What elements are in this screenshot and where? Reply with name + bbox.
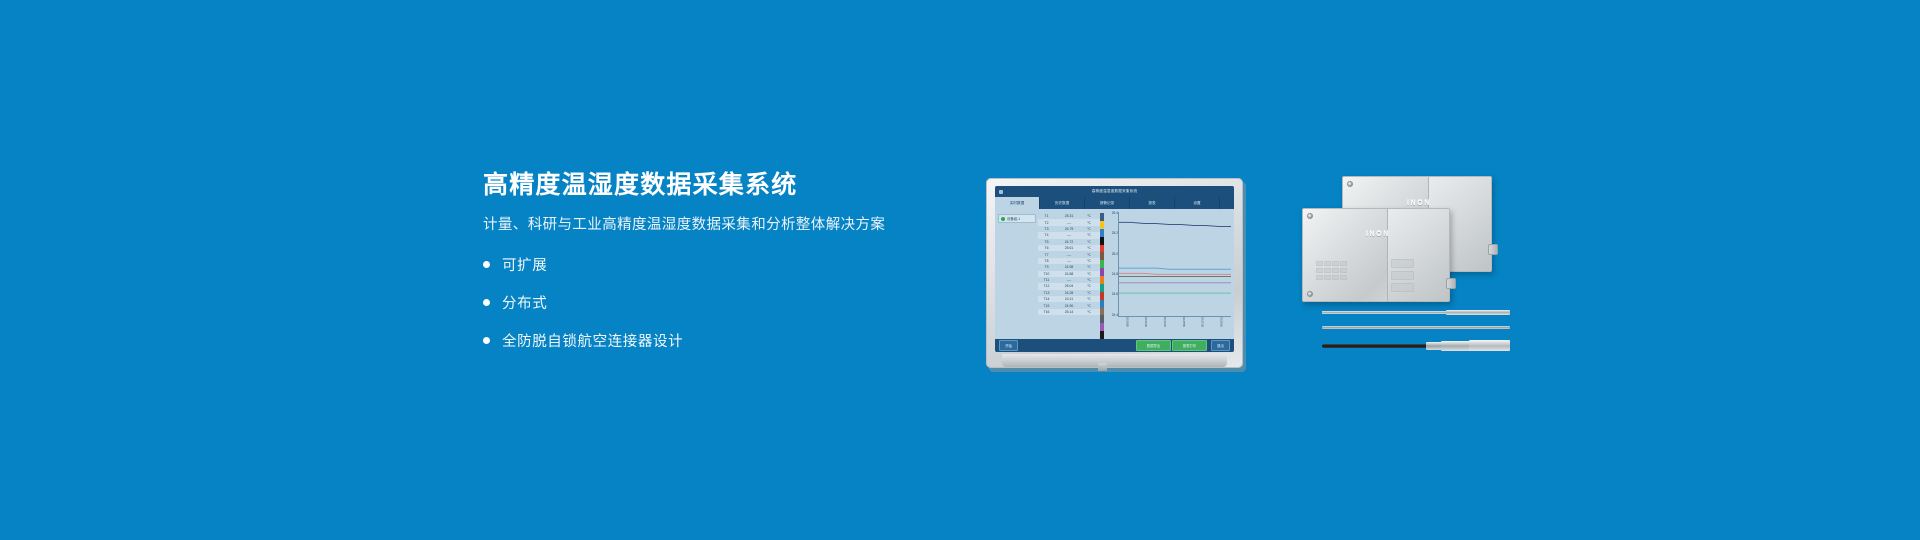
chart-plot-area bbox=[1118, 212, 1231, 317]
channel-value: 24.79 bbox=[1055, 227, 1083, 231]
channel-unit: ℃ bbox=[1083, 304, 1095, 308]
cabled-sensor-probe bbox=[1322, 340, 1510, 351]
channel-value: 25.14 bbox=[1055, 310, 1083, 314]
channel-name: T9 bbox=[1038, 265, 1055, 269]
channel-value: 24.90 bbox=[1055, 304, 1083, 308]
channel-name: T5 bbox=[1038, 240, 1055, 244]
tabbar-spacer bbox=[1220, 197, 1234, 209]
page-subtitle: 计量、科研与工业高精度温湿度数据采集和分析整体解决方案 bbox=[483, 217, 963, 234]
channel-name: T10 bbox=[1038, 272, 1055, 276]
page-title: 高精度温湿度数据采集系统 bbox=[483, 172, 963, 200]
tree-item-device-group[interactable]: 设备组-1 bbox=[998, 214, 1036, 223]
enclosure-front: INON bbox=[1302, 208, 1450, 302]
product-banner: 高精度温湿度数据采集系统 计量、科研与工业高精度温湿度数据采集和分析整体解决方案… bbox=[0, 0, 1920, 540]
daq-application: 高精度温湿度数据采集系统 实时数据 历史数据 报警记录 报表 设置 设备组-1 bbox=[995, 186, 1234, 352]
channel-value: ---- bbox=[1055, 233, 1083, 237]
label-grid bbox=[1316, 261, 1371, 292]
tab-settings[interactable]: 设置 bbox=[1175, 197, 1220, 209]
channel-name: T12 bbox=[1038, 284, 1055, 288]
x-tick-label: 10:22:30 bbox=[1144, 317, 1148, 337]
bullet-dot-icon bbox=[483, 261, 490, 268]
channel-name: T11 bbox=[1038, 278, 1055, 282]
channel-unit: ℃ bbox=[1083, 233, 1095, 237]
sensor-probes bbox=[1322, 310, 1512, 360]
monitor-product-image: 高精度温湿度数据采集系统 实时数据 历史数据 报警记录 报表 设置 设备组-1 bbox=[986, 178, 1249, 375]
chart-y-axis: 25.425.225.024.824.624.4 bbox=[1105, 212, 1118, 317]
channel-value: 25.61 bbox=[1055, 246, 1083, 250]
channel-value: 25.31 bbox=[1055, 214, 1083, 218]
channel-unit: ℃ bbox=[1083, 291, 1095, 295]
monitor-display: 高精度温湿度数据采集系统 实时数据 历史数据 报警记录 报表 设置 设备组-1 bbox=[995, 186, 1234, 352]
tree-item-label: 设备组-1 bbox=[1007, 216, 1020, 221]
banner-copy: 高精度温湿度数据采集系统 计量、科研与工业高精度温湿度数据采集和分析整体解决方案… bbox=[483, 172, 963, 368]
bullet-dot-icon bbox=[483, 299, 490, 306]
channel-unit: ℃ bbox=[1083, 310, 1095, 314]
channel-value: 24.98 bbox=[1055, 265, 1083, 269]
print-report-button[interactable]: 报表打印 bbox=[1172, 340, 1207, 351]
app-titlebar: 高精度温湿度数据采集系统 bbox=[995, 186, 1234, 197]
trend-chart: 25.425.225.024.824.624.4 10:20:5010:22:3… bbox=[1104, 209, 1234, 339]
channel-unit: ℃ bbox=[1083, 221, 1095, 225]
channel-name: T15 bbox=[1038, 304, 1055, 308]
channel-value: 25.04 bbox=[1055, 284, 1083, 288]
channel-unit: ℃ bbox=[1083, 278, 1095, 282]
app-body: 设备组-1 T1 25.31 ℃ T2 ---- ℃ bbox=[995, 209, 1234, 339]
channel-table: T1 25.31 ℃ T2 ---- ℃ T3 24.79 ℃ bbox=[1038, 209, 1100, 339]
channel-value: ---- bbox=[1055, 259, 1083, 263]
bullet-dot-icon bbox=[483, 337, 490, 344]
channel-name: T14 bbox=[1038, 297, 1055, 301]
list-item: 可扩展 bbox=[483, 254, 963, 275]
channel-name: T8 bbox=[1038, 259, 1055, 263]
chart-series-line bbox=[1119, 273, 1231, 274]
channel-name: T2 bbox=[1038, 221, 1055, 225]
tab-report[interactable]: 报表 bbox=[1130, 197, 1175, 209]
channel-value: 24.88 bbox=[1055, 272, 1083, 276]
channel-value: ---- bbox=[1055, 221, 1083, 225]
x-tick-label: 10:24:10 bbox=[1163, 317, 1167, 337]
brand-logo: INON bbox=[1407, 200, 1431, 207]
channel-unit: ℃ bbox=[1083, 259, 1095, 263]
channel-value: 24.11 bbox=[1055, 297, 1083, 301]
chart-series-line bbox=[1119, 268, 1231, 269]
connector-port bbox=[1446, 278, 1456, 289]
channel-name: T4 bbox=[1038, 233, 1055, 237]
channel-name: T13 bbox=[1038, 291, 1055, 295]
list-item: 分布式 bbox=[483, 292, 963, 313]
feature-list: 可扩展 分布式 全防脱自锁航空连接器设计 bbox=[483, 254, 963, 351]
connected-icon bbox=[1001, 217, 1005, 221]
humidity-probe-slim bbox=[1322, 326, 1510, 330]
monitor-stand bbox=[1098, 363, 1107, 371]
start-button[interactable]: 开始 bbox=[999, 340, 1018, 351]
connector-port bbox=[1488, 244, 1498, 255]
feature-label: 可扩展 bbox=[502, 254, 547, 275]
list-item: 全防脱自锁航空连接器设计 bbox=[483, 330, 963, 351]
monitor-foot bbox=[1002, 354, 1227, 367]
channel-unit: ℃ bbox=[1083, 214, 1095, 218]
tab-realtime-data[interactable]: 实时数据 bbox=[995, 197, 1040, 209]
channel-name: T16 bbox=[1038, 310, 1055, 314]
channel-unit: ℃ bbox=[1083, 227, 1095, 231]
chart-series-svg bbox=[1119, 212, 1231, 316]
channel-name: T6 bbox=[1038, 246, 1055, 250]
screw-icon bbox=[1307, 291, 1313, 297]
channel-value: ---- bbox=[1055, 253, 1083, 257]
app-footer: 开始 数据导出 报表打印 退出 bbox=[995, 339, 1234, 352]
chart-series-line bbox=[1119, 222, 1231, 226]
table-row[interactable]: T16 25.14 ℃ bbox=[1038, 309, 1100, 315]
channel-value: ---- bbox=[1055, 278, 1083, 282]
channel-value: 24.28 bbox=[1055, 291, 1083, 295]
chart-x-axis: 10:20:5010:22:3010:24:1010:25:5010:27:30… bbox=[1118, 317, 1231, 337]
channel-name: T3 bbox=[1038, 227, 1055, 231]
temperature-probe-stainless bbox=[1322, 310, 1510, 315]
app-tabbar: 实时数据 历史数据 报警记录 报表 设置 bbox=[995, 197, 1234, 209]
channel-name: T1 bbox=[1038, 214, 1055, 218]
channel-value: 24.72 bbox=[1055, 240, 1083, 244]
x-tick-label: 10:27:30 bbox=[1201, 317, 1205, 337]
brand-logo: INON bbox=[1366, 231, 1390, 238]
x-tick-label: 10:25:50 bbox=[1182, 317, 1186, 337]
channel-unit: ℃ bbox=[1083, 272, 1095, 276]
x-tick-label: 10:20:50 bbox=[1125, 317, 1129, 337]
channel-unit: ℃ bbox=[1083, 253, 1095, 257]
app-title: 高精度温湿度数据采集系统 bbox=[995, 189, 1234, 194]
screw-icon bbox=[1347, 181, 1353, 187]
device-tree-panel: 设备组-1 bbox=[995, 209, 1038, 339]
x-tick-label: 10:29:10 bbox=[1220, 317, 1224, 337]
feature-label: 分布式 bbox=[502, 292, 547, 313]
channel-unit: ℃ bbox=[1083, 246, 1095, 250]
channel-unit: ℃ bbox=[1083, 240, 1095, 244]
channel-name: T7 bbox=[1038, 253, 1055, 257]
channel-unit: ℃ bbox=[1083, 265, 1095, 269]
port-labels bbox=[1391, 259, 1414, 292]
screw-icon bbox=[1307, 213, 1313, 219]
channel-unit: ℃ bbox=[1083, 297, 1095, 301]
exit-button[interactable]: 退出 bbox=[1211, 340, 1230, 351]
tab-history-data[interactable]: 历史数据 bbox=[1040, 197, 1085, 209]
feature-label: 全防脱自锁航空连接器设计 bbox=[502, 330, 683, 351]
channel-unit: ℃ bbox=[1083, 284, 1095, 288]
export-data-button[interactable]: 数据导出 bbox=[1136, 340, 1171, 351]
tab-alarm-log[interactable]: 报警记录 bbox=[1085, 197, 1130, 209]
